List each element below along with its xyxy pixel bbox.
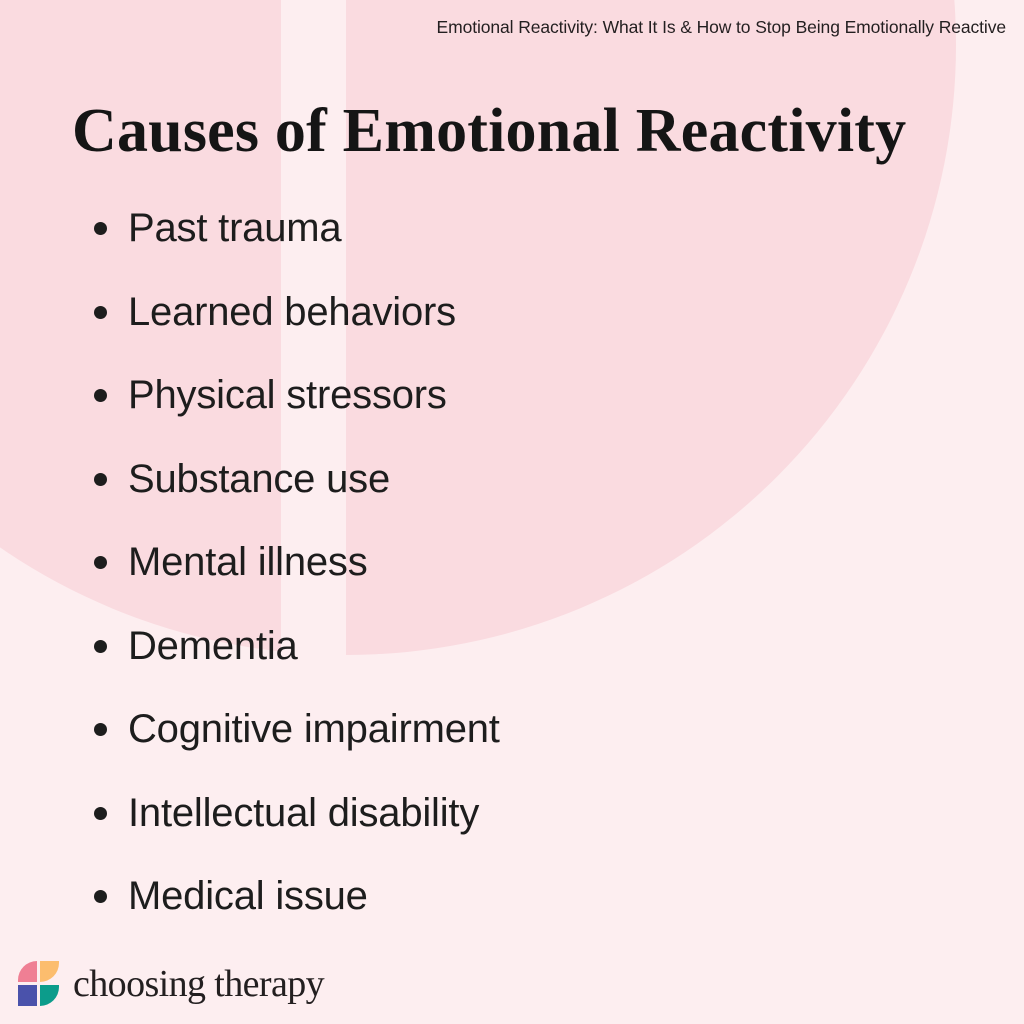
logo-quadrant-bottom-left-icon	[18, 985, 37, 1006]
logo-quadrant-top-left-icon	[18, 961, 37, 982]
infographic-canvas: Emotional Reactivity: What It Is & How t…	[0, 0, 1024, 1024]
bullet-icon	[94, 306, 107, 319]
list-item: Intellectual disability	[78, 783, 978, 867]
logo-quadrant-bottom-right-icon	[40, 985, 59, 1006]
choosing-therapy-logo-icon	[18, 961, 59, 1006]
list-item: Substance use	[78, 449, 978, 533]
bullet-icon	[94, 723, 107, 736]
list-item-label: Dementia	[128, 624, 298, 668]
brand-name: choosing therapy	[73, 964, 324, 1004]
list-item: Cognitive impairment	[78, 699, 978, 783]
logo-quadrant-top-right-icon	[40, 961, 59, 982]
list-item-label: Substance use	[128, 457, 390, 501]
list-item: Medical issue	[78, 866, 978, 950]
bullet-icon	[94, 222, 107, 235]
page-title: Causes of Emotional Reactivity	[72, 98, 992, 164]
article-title-header: Emotional Reactivity: What It Is & How t…	[0, 16, 1006, 38]
list-item-label: Mental illness	[128, 540, 368, 584]
list-item: Physical stressors	[78, 365, 978, 449]
list-item-label: Cognitive impairment	[128, 707, 500, 751]
list-item-label: Past trauma	[128, 206, 341, 250]
bullet-icon	[94, 389, 107, 402]
causes-list: Past trauma Learned behaviors Physical s…	[78, 198, 978, 950]
bullet-icon	[94, 640, 107, 653]
bullet-icon	[94, 473, 107, 486]
list-item-label: Intellectual disability	[128, 791, 479, 835]
list-item: Past trauma	[78, 198, 978, 282]
list-item-label: Learned behaviors	[128, 290, 456, 334]
list-item: Dementia	[78, 616, 978, 700]
bullet-icon	[94, 556, 107, 569]
list-item-label: Physical stressors	[128, 373, 447, 417]
bullet-icon	[94, 890, 107, 903]
list-item: Learned behaviors	[78, 282, 978, 366]
bullet-icon	[94, 807, 107, 820]
list-item: Mental illness	[78, 532, 978, 616]
list-item-label: Medical issue	[128, 874, 368, 918]
brand-logo[interactable]: choosing therapy	[18, 961, 324, 1006]
